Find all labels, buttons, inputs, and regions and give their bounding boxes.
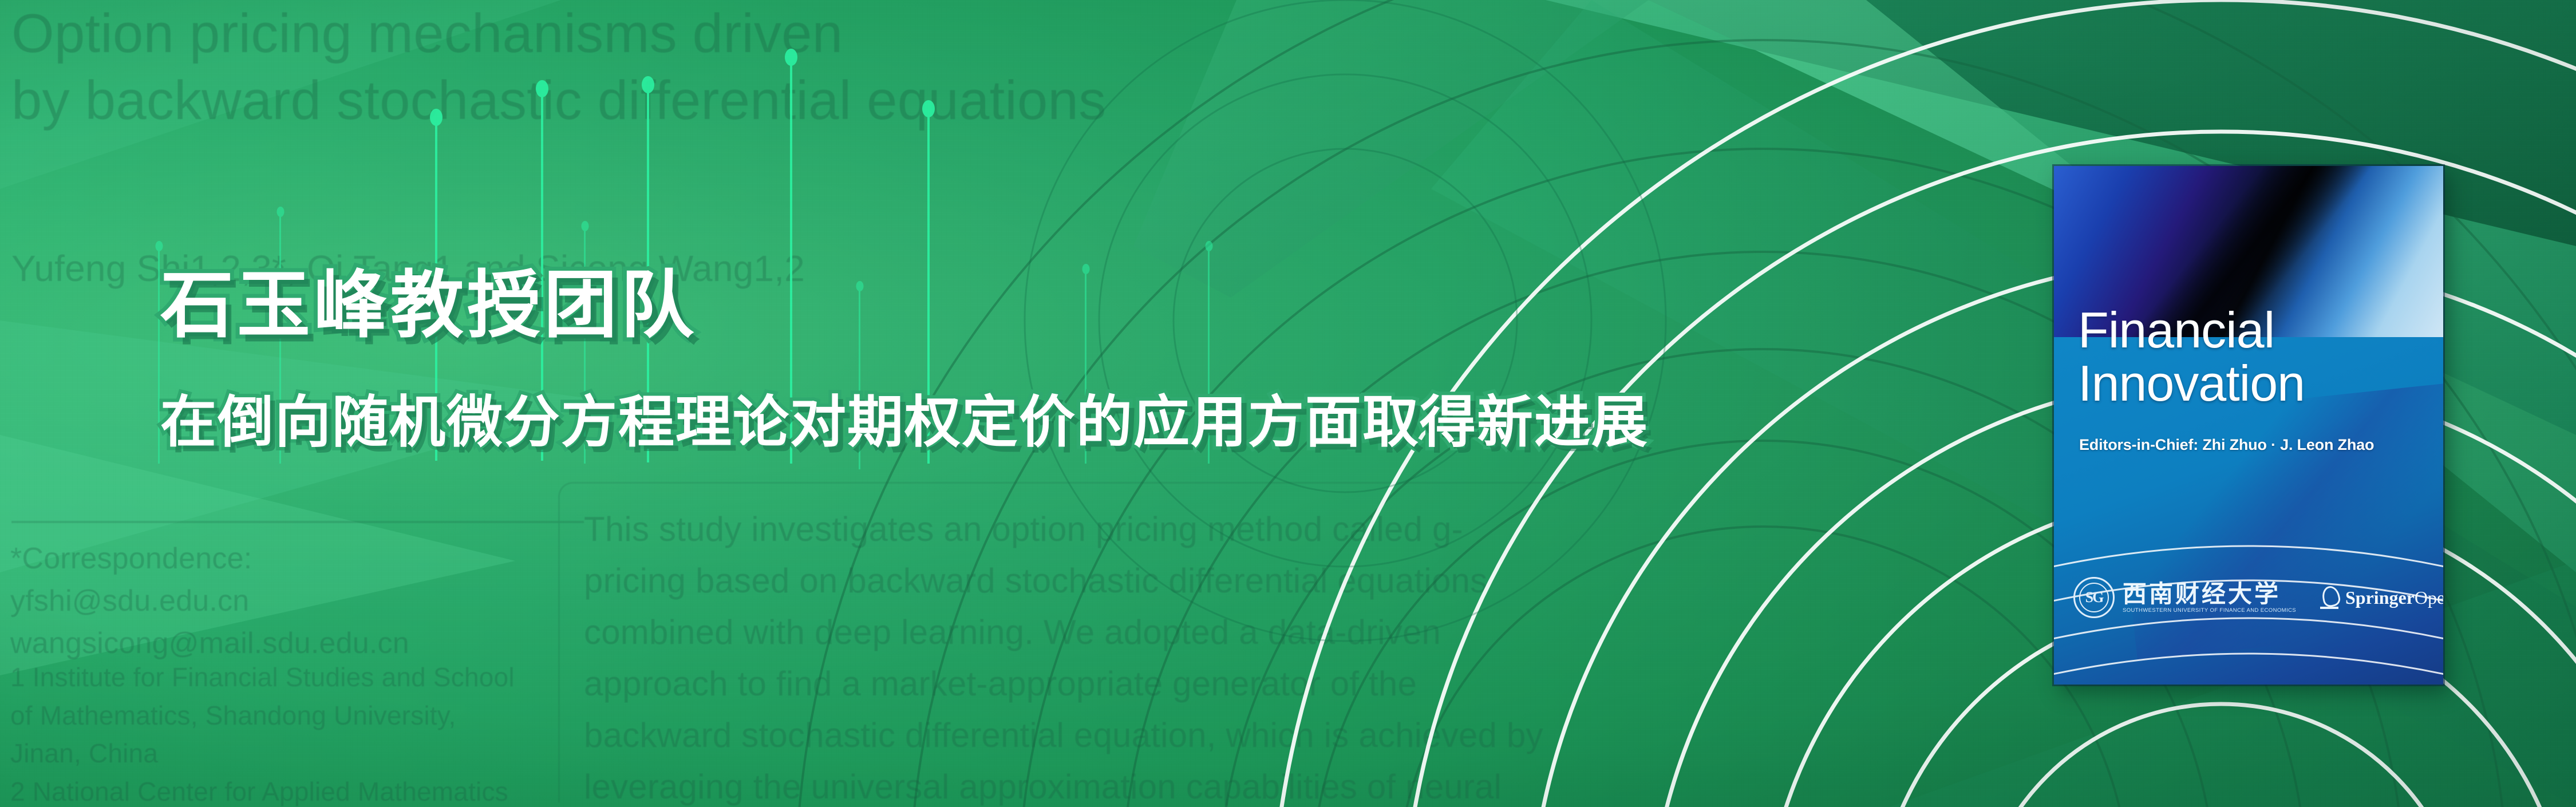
swufe-wordmark: 西南财经大学 SOUTHWESTERN UNIVERSITY OF FINANC… (2123, 582, 2296, 614)
university-name-cn: 西南财经大学 (2123, 582, 2296, 606)
cover-logo-row: 西南财经大学 SOUTHWESTERN UNIVERSITY OF FINANC… (2054, 563, 2443, 632)
cover-editors: Editors-in-Chief: Zhi Zhuo · J. Leon Zha… (2079, 436, 2432, 454)
journal-cover[interactable]: Financial Innovation Editors-in-Chief: Z… (2054, 166, 2443, 685)
springer-horse-icon (2319, 585, 2341, 610)
cover-title: Financial Innovation (2078, 303, 2429, 410)
springer-wordmark: SpringerOpen (2345, 587, 2443, 608)
springer-open-logo: SpringerOpen (2319, 585, 2443, 610)
university-name-en: SOUTHWESTERN UNIVERSITY OF FINANCE AND E… (2123, 608, 2296, 614)
cover-title-line2: Innovation (2078, 357, 2429, 410)
headline-primary: 石玉峰教授团队 (160, 269, 1878, 342)
university-seal-icon (2073, 577, 2115, 618)
headline-secondary: 在倒向随机微分方程理论对期权定价的应用方面取得新进展 (160, 394, 1878, 450)
swufe-logo: 西南财经大学 SOUTHWESTERN UNIVERSITY OF FINANC… (2073, 577, 2296, 618)
stem-marker (158, 246, 160, 464)
banner-root: Option pricing mechanisms driven by back… (0, 0, 2576, 807)
headline-block: 石玉峰教授团队 在倒向随机微分方程理论对期权定价的应用方面取得新进展 (160, 269, 1878, 450)
springer-bold: Springer (2345, 587, 2415, 608)
cover-title-line1: Financial (2078, 303, 2429, 357)
springer-open: Open (2415, 587, 2443, 608)
